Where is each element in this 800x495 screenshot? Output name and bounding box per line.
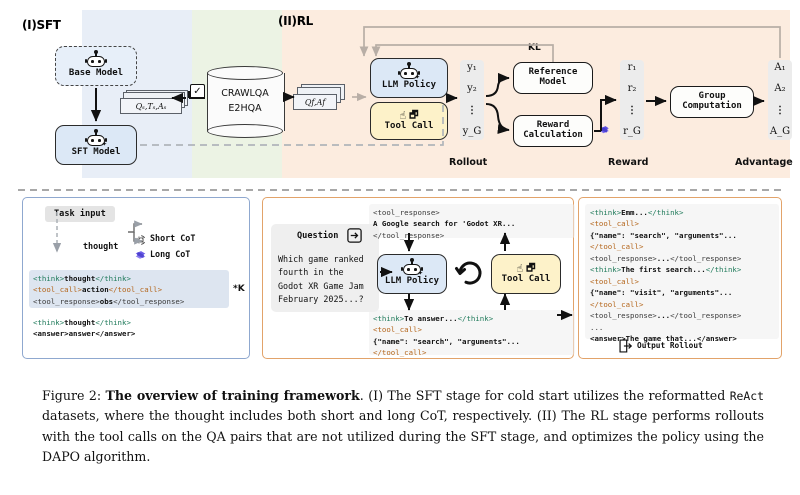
tool-response-block: <tool_response>A Google search for 'Godo…: [373, 207, 515, 241]
robot-icon: ✦: [398, 65, 420, 80]
code-line: </tool_call>: [590, 241, 741, 252]
long-cot-label: Long CoT: [150, 249, 190, 259]
sft-code-block-react: <think>thought</think><tool_call>action<…: [33, 273, 184, 307]
code-line: </tool_call>: [373, 347, 520, 358]
code-line: <think>thought</think>: [33, 273, 184, 284]
rl-data-stack-label: Qf,Af: [293, 94, 337, 110]
tool-icons: ☝ 🗗: [399, 110, 418, 121]
node-base-model-label: Base Model: [69, 69, 123, 79]
check-icon: ✓: [190, 84, 205, 99]
panel-sft-detail: Task input thought Short CoT Long CoT <t…: [22, 197, 250, 359]
stage-label-sft: (I)SFT: [22, 18, 61, 32]
code-token: </tool_response>: [670, 311, 741, 320]
code-token: <think>: [590, 265, 621, 274]
database-cylinder[interactable]: CRAWLQA E2HQA: [207, 66, 283, 138]
code-token: <tool_response>: [373, 208, 440, 217]
node-sft-model-label: SFT Model: [72, 148, 121, 158]
code-line: <tool_call>: [590, 218, 741, 229]
advantage-vector: A₁ A₂ ⋮ A_G: [768, 60, 792, 140]
browser-window-icon: 🗗: [409, 111, 418, 121]
code-token: <think>: [590, 208, 621, 217]
figure-caption: Figure 2: The overview of training frame…: [42, 386, 764, 468]
rollout-vector: y₁ y₂ ⋮ y_G: [460, 60, 484, 140]
code-line: <tool_call>: [373, 324, 520, 335]
top-diagram: (I)SFT (II)RL Base Model ✦ SFT Model: [0, 0, 800, 185]
question-text: Which game ranked fourth in the Godot XR…: [278, 253, 364, 306]
code-line: <answer>answer</answer>: [33, 328, 135, 339]
code-line: <tool_response>obs</tool_response>: [33, 296, 184, 307]
click-hand-icon: ☝: [399, 110, 406, 121]
code-line: <tool_response>...</tool_response>: [590, 253, 741, 264]
caption-rest-1: . (I) The SFT stage for cold start utili…: [360, 388, 730, 403]
thought-label: thought: [83, 241, 118, 251]
rl-data-stack: Qf,Af: [293, 84, 349, 110]
short-cot-label: Short CoT: [150, 233, 195, 243]
code-token: <tool_call>: [590, 219, 639, 228]
code-token: <think>: [373, 314, 404, 323]
caption-title: The overview of training framework: [105, 388, 359, 403]
advantage-AG: A_G: [770, 127, 790, 137]
code-token: ...: [590, 323, 603, 332]
output-rollout-label: Output Rollout: [637, 341, 703, 350]
sft-code-block-answer: <think>thought</think><answer>answer</an…: [33, 317, 135, 340]
code-line: <think>The first search...</think>: [590, 264, 741, 275]
code-token: <tool_response>: [590, 311, 657, 320]
rollout-yG: y_G: [463, 127, 482, 137]
sparkle-icon: ✦: [415, 73, 420, 82]
caption-prefix: Figure 2:: [42, 388, 105, 403]
code-line: <think>thought</think>: [33, 317, 135, 328]
caption-mono-react: ReAct: [730, 389, 764, 403]
node-llm-policy-detail[interactable]: ✦ LLM Policy: [377, 254, 447, 294]
database-label-1: CRAWLQA: [221, 87, 269, 102]
node-tool-call-detail-label: Tool Call: [502, 275, 551, 285]
code-token: </tool_response>: [113, 297, 184, 306]
node-tool-call-label: Tool Call: [385, 122, 434, 132]
code-token: thought: [64, 274, 95, 283]
rollout-y1: y₁: [467, 63, 477, 73]
reward-rG: r_G: [623, 127, 641, 137]
robot-icon: [85, 53, 107, 68]
node-group-computation[interactable]: Group Computation: [670, 86, 754, 118]
code-token: </think>: [95, 274, 131, 283]
column-label-reward: Reward: [608, 157, 648, 168]
column-label-rollout: Rollout: [449, 157, 487, 168]
code-token: ...: [657, 311, 670, 320]
code-token: </tool_response>: [373, 231, 444, 240]
code-token: </tool_call>: [590, 242, 643, 251]
code-token: <tool_response>: [590, 254, 657, 263]
code-token: {"name": "search", "arguments"...: [373, 337, 520, 346]
rollout-ellipsis: ⋮: [467, 106, 477, 116]
code-token: action: [82, 285, 109, 294]
advantage-ellipsis: ⋮: [775, 106, 785, 116]
output-rollout-code: <think>Emm...</think><tool_call>{"name":…: [590, 207, 741, 345]
browser-window-icon: 🗗: [526, 264, 535, 274]
panel-rl-rollout: Question Which game ranked fourth in the…: [262, 197, 574, 359]
sparkle-icon: ✦: [102, 140, 107, 149]
node-base-model[interactable]: Base Model: [55, 46, 137, 86]
code-line: <tool_response>: [373, 207, 515, 218]
loop-arrow-icon: [453, 256, 487, 294]
code-token: <answer>: [33, 329, 69, 338]
code-token: </tool_call>: [109, 285, 162, 294]
code-token: obs: [100, 297, 113, 306]
code-token: <tool_call>: [373, 325, 422, 334]
bottom-panels: Task input thought Short CoT Long CoT <t…: [0, 185, 800, 373]
code-token: </tool_response>: [670, 254, 741, 263]
task-input-label: Task input: [45, 206, 115, 222]
code-token: <think>: [33, 274, 64, 283]
kl-label: KL: [528, 43, 541, 53]
rollout-y2: y₂: [467, 84, 477, 94]
code-token: </answer>: [95, 329, 135, 338]
code-token: ...: [657, 254, 670, 263]
column-label-advantage: Advantage: [735, 157, 793, 168]
code-token: <tool_response>: [33, 297, 100, 306]
code-token: To answer...: [404, 314, 457, 323]
code-token: </think>: [706, 265, 742, 274]
question-header-label: Question: [297, 231, 338, 241]
reward-r2: r₂: [628, 84, 637, 94]
tool-icons: ☝ 🗗: [516, 263, 535, 274]
code-line: {"name": "visit", "arguments"...: [590, 287, 741, 298]
code-token: </tool_call>: [373, 348, 426, 357]
node-reward-calculation[interactable]: Reward Calculation: [513, 115, 593, 147]
sparkle-icon: ✦: [418, 269, 423, 278]
reward-vector: r₁ r₂ ⋮ r_G: [620, 60, 644, 140]
node-sft-model[interactable]: ✦ SFT Model: [55, 125, 137, 165]
click-hand-icon: ☝: [516, 263, 523, 274]
code-token: </think>: [648, 208, 684, 217]
database-label-2: E2HQA: [228, 102, 261, 117]
question-arrow-icon: [347, 228, 362, 247]
node-llm-policy-detail-label: LLM Policy: [385, 277, 439, 287]
figure-page: (I)SFT (II)RL Base Model ✦ SFT Model: [0, 0, 800, 495]
node-tool-call[interactable]: ☝ 🗗 Tool Call: [370, 102, 448, 140]
code-token: A Google search for 'Godot XR...: [373, 219, 515, 228]
robot-icon: ✦: [401, 261, 423, 276]
code-token: </think>: [95, 318, 131, 327]
code-line: <tool_call>action</tool_call>: [33, 284, 184, 295]
model-logo-icon: [598, 122, 611, 134]
code-token: {"name": "search", "arguments"...: [590, 231, 737, 240]
code-line: A Google search for 'Godot XR...: [373, 218, 515, 229]
code-token: </tool_call>: [590, 300, 643, 309]
code-line: {"name": "search", "arguments"...: [373, 336, 520, 347]
code-line: </tool_call>: [590, 299, 741, 310]
output-arrow-icon: [619, 338, 633, 357]
reward-ellipsis: ⋮: [627, 106, 637, 116]
code-token: <think>: [33, 318, 64, 327]
code-token: {"name": "visit", "arguments"...: [590, 288, 732, 297]
code-line: {"name": "search", "arguments"...: [590, 230, 741, 241]
code-line: <think>To answer...</think>: [373, 313, 520, 324]
code-token: thought: [64, 318, 95, 327]
node-reference-model-label: Reference Model: [529, 68, 578, 88]
stage-label-rl: (II)RL: [278, 14, 313, 28]
code-token: </think>: [458, 314, 494, 323]
code-line: ...: [590, 322, 741, 333]
caption-rest-2: datasets, where the thought includes bot…: [42, 408, 764, 464]
short-cot-logo-icon: [135, 231, 147, 243]
code-line: <tool_call>: [590, 276, 741, 287]
code-line: <tool_response>...</tool_response>: [590, 310, 741, 321]
code-token: <tool_call>: [590, 277, 639, 286]
code-token: The first search...: [621, 265, 706, 274]
advantage-A2: A₂: [774, 84, 785, 94]
panel-output-rollout: <think>Emm...</think><tool_call>{"name":…: [578, 197, 782, 359]
code-line: </tool_response>: [373, 230, 515, 241]
code-line: <think>Emm...</think>: [590, 207, 741, 218]
tool-call-block: <think>To answer...</think><tool_call>{"…: [373, 313, 520, 359]
node-tool-call-detail[interactable]: ☝ 🗗 Tool Call: [491, 254, 561, 294]
repeat-k-label: *K: [233, 284, 245, 294]
robot-icon: ✦: [85, 132, 107, 147]
long-cot-logo-icon: [134, 247, 147, 259]
node-llm-policy-label: LLM Policy: [382, 81, 436, 91]
node-llm-policy[interactable]: ✦ LLM Policy: [370, 58, 448, 98]
node-reference-model[interactable]: Reference Model: [513, 62, 593, 94]
node-group-computation-label: Group Computation: [682, 92, 742, 112]
sft-data-stack: Qₛ,Tₛ,Aₛ: [120, 90, 188, 114]
reward-r1: r₁: [628, 63, 637, 73]
code-token: answer: [69, 329, 96, 338]
sft-data-stack-label: Qₛ,Tₛ,Aₛ: [120, 98, 182, 114]
code-token: <tool_call>: [33, 285, 82, 294]
node-reward-calculation-label: Reward Calculation: [523, 121, 583, 141]
advantage-A1: A₁: [774, 63, 785, 73]
code-token: Emm...: [621, 208, 648, 217]
